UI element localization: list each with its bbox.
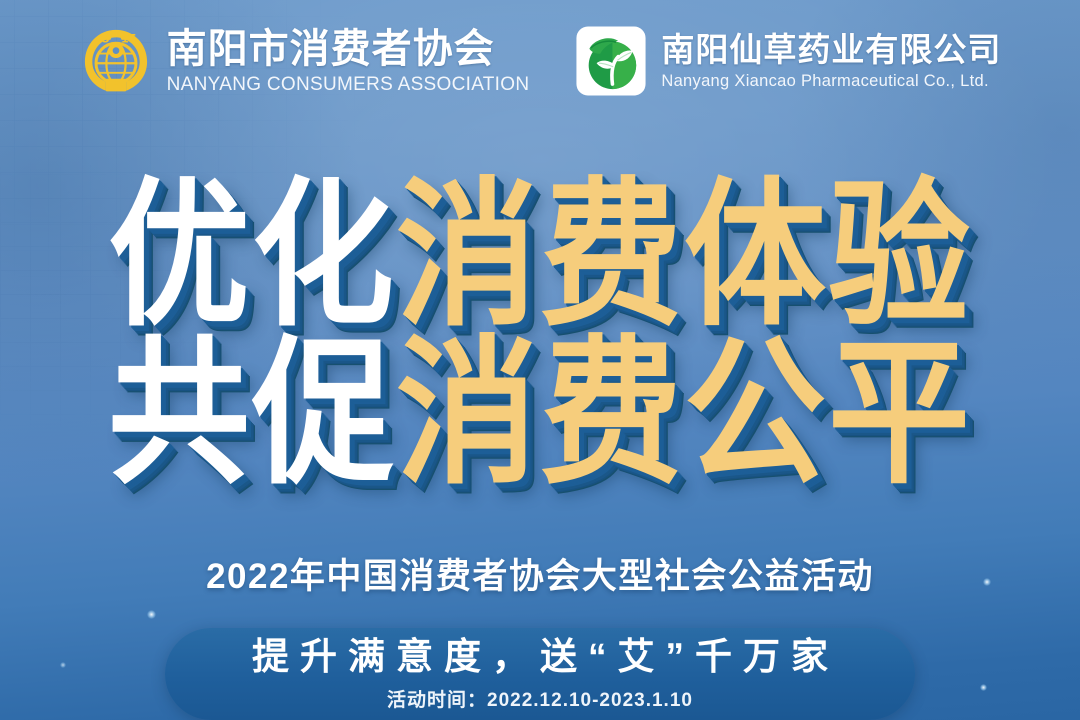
svg-text:15: 15 (121, 33, 136, 46)
315-emblem-icon: 3 15 (79, 24, 153, 98)
company-en-name: Nanyang Xiancao Pharmaceutical Co., Ltd. (661, 73, 1001, 90)
svg-text:3: 3 (102, 33, 110, 46)
headline-block: 优化消费体验 共促消费公平 (0, 168, 1080, 484)
association-cn-name: 南阳市消费者协会 (167, 29, 530, 69)
xiancao-leaf-emblem-icon (575, 25, 647, 97)
headline-line-1: 优化消费体验 (0, 168, 1080, 345)
headline-line1-gold: 消费体验 (396, 168, 972, 345)
association-en-name: NANYANG CONSUMERS ASSOCIATION (167, 75, 530, 94)
event-subtitle: 2022年中国消费者协会大型社会公益活动 (0, 548, 1080, 599)
brand-consumers-association: 3 15 南阳市消费者协会 NANYANG CONSUMERS ASSOCIAT… (79, 24, 530, 98)
event-date-text: 活动时间：2022.12.10-2023.1.10 (387, 685, 693, 712)
slogan-text: 提升满意度，送“艾”千万家 (241, 638, 839, 677)
brand-left-texts: 南阳市消费者协会 NANYANG CONSUMERS ASSOCIATION (167, 29, 530, 94)
slogan-banner: 提升满意度，送“艾”千万家 活动时间：2022.12.10-2023.1.10 (165, 628, 915, 720)
headline-line-2: 共促消费公平 (0, 326, 1080, 503)
headline-line2-gold: 消费公平 (396, 326, 972, 503)
brand-right-texts: 南阳仙草药业有限公司 Nanyang Xiancao Pharmaceutica… (661, 33, 1001, 90)
header-brand-bar: 3 15 南阳市消费者协会 NANYANG CONSUMERS ASSOCIAT… (0, 0, 1080, 122)
headline-line2-white: 共促 (108, 326, 396, 503)
headline-line1-white: 优化 (108, 168, 396, 345)
brand-xiancao-pharmaceutical: 南阳仙草药业有限公司 Nanyang Xiancao Pharmaceutica… (575, 25, 1001, 97)
company-cn-name: 南阳仙草药业有限公司 (661, 33, 1001, 66)
promo-poster: 3 15 南阳市消费者协会 NANYANG CONSUMERS ASSOCIAT… (0, 0, 1080, 720)
